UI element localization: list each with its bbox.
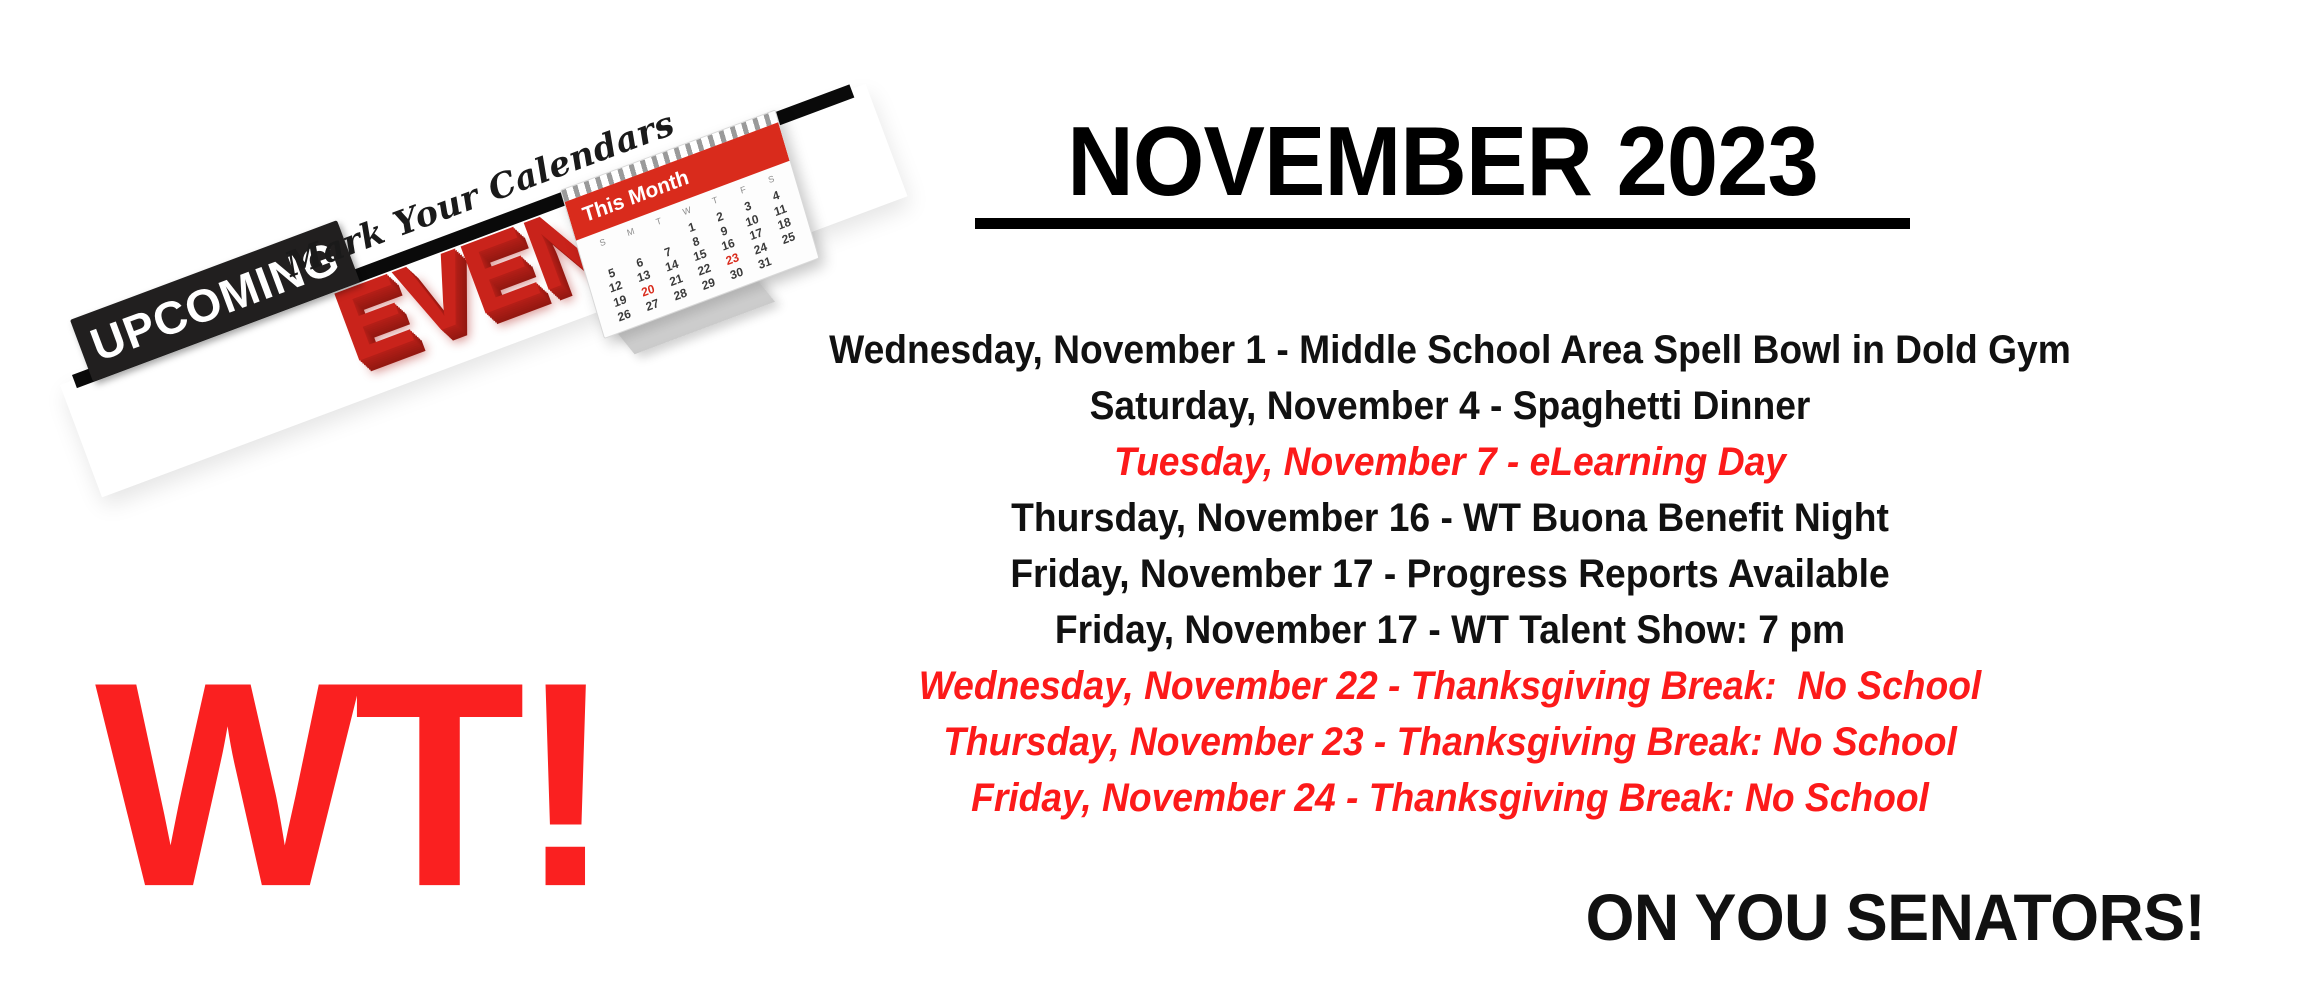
event-line: Saturday, November 4 - Spaghetti Dinner: [660, 378, 2241, 434]
event-line: Friday, November 24 - Thanksgiving Break…: [660, 770, 2241, 826]
events-list: Wednesday, November 1 - Middle School Ar…: [600, 322, 2300, 826]
event-line: Tuesday, November 7 - eLearning Day: [660, 434, 2241, 490]
event-line: Friday, November 17 - WT Talent Show: 7 …: [660, 602, 2241, 658]
wt-logo-text: WT!: [95, 640, 532, 932]
title-block: NOVEMBER 2023: [975, 112, 1910, 229]
event-line: Friday, November 17 - Progress Reports A…: [660, 546, 2241, 602]
tagline-text: ON YOU SENATORS!: [1585, 884, 2205, 950]
wt-logo: WT!: [95, 640, 515, 960]
poster-canvas: EVENTS UPCOMING Mark Your Calendars This…: [0, 0, 2300, 1000]
title-underline: [975, 218, 1910, 229]
page-title: NOVEMBER 2023: [1003, 112, 1882, 210]
event-line: Thursday, November 23 - Thanksgiving Bre…: [660, 714, 2241, 770]
event-line: Wednesday, November 22 - Thanksgiving Br…: [660, 658, 2241, 714]
event-line: Thursday, November 16 - WT Buona Benefit…: [660, 490, 2241, 546]
event-line: Wednesday, November 1 - Middle School Ar…: [660, 322, 2241, 378]
